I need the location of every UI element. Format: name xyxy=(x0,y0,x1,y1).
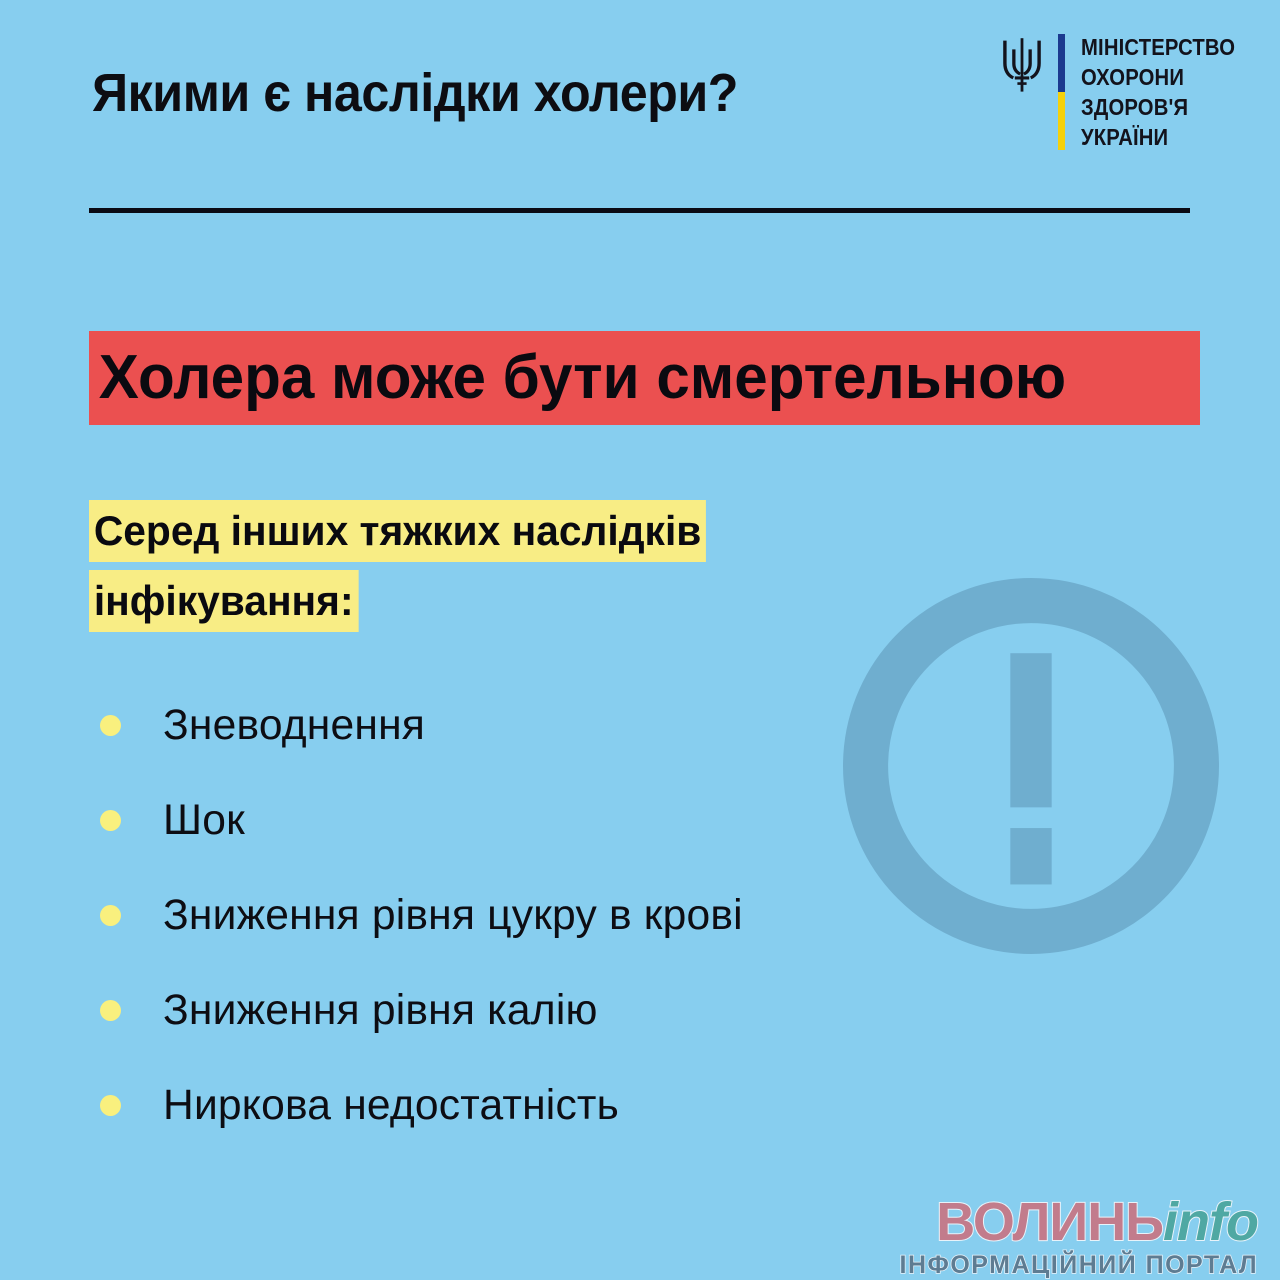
site-watermark: ВОЛИНЬinfo ІНФОРМАЦІЙНИЙ ПОРТАЛ xyxy=(838,1196,1258,1280)
flag-divider-bar xyxy=(1058,34,1065,150)
header-divider xyxy=(89,208,1190,213)
list-item: Зниження рівня цукру в крові xyxy=(94,868,894,963)
infographic-page: Якими є наслідки холери? МІНІСТЕРСТВО ОХ… xyxy=(0,0,1280,1280)
watermark-tagline: ІНФОРМАЦІЙНИЙ ПОРТАЛ xyxy=(838,1250,1258,1280)
list-item-label: Шок xyxy=(163,796,245,845)
watermark-brand-primary: ВОЛИНЬ xyxy=(936,1192,1163,1252)
list-item: Зневоднення xyxy=(94,678,894,773)
bullet-dot-icon xyxy=(100,1000,121,1021)
ministry-logo: МІНІСТЕРСТВО ОХОРОНИ ЗДОРОВ'Я УКРАЇНИ xyxy=(1000,32,1215,167)
subheading-line-1: Серед інших тяжких наслідків xyxy=(89,500,706,562)
bullet-dot-icon xyxy=(100,1095,121,1116)
bullet-dot-icon xyxy=(100,905,121,926)
ministry-logo-line-4: УКРАЇНИ xyxy=(1081,122,1235,152)
list-item: Ниркова недостатність xyxy=(94,1058,894,1153)
page-title: Якими є наслідки холери? xyxy=(92,62,738,124)
watermark-brand: ВОЛИНЬinfo xyxy=(838,1196,1258,1248)
ministry-logo-text: МІНІСТЕРСТВО ОХОРОНИ ЗДОРОВ'Я УКРАЇНИ xyxy=(1081,32,1256,152)
fatality-banner: Холера може бути смертельною xyxy=(89,331,1200,425)
bullet-dot-icon xyxy=(100,810,121,831)
fatality-banner-text: Холера може бути смертельною xyxy=(89,347,1066,409)
tryzub-icon xyxy=(1000,36,1044,94)
list-item-label: Зниження рівня калію xyxy=(163,986,598,1035)
ministry-logo-line-1: МІНІСТЕРСТВО xyxy=(1081,32,1235,62)
subheading-line-2: інфікування: xyxy=(89,570,358,632)
consequences-list: Зневоднення Шок Зниження рівня цукру в к… xyxy=(94,678,894,1153)
ministry-logo-line-2: ОХОРОНИ xyxy=(1081,62,1235,92)
list-item: Зниження рівня калію xyxy=(94,963,894,1058)
watermark-brand-secondary: info xyxy=(1163,1192,1258,1252)
ministry-logo-line-3: ЗДОРОВ'Я xyxy=(1081,92,1235,122)
list-item-label: Ниркова недостатність xyxy=(163,1081,619,1130)
list-item: Шок xyxy=(94,773,894,868)
list-item-label: Зниження рівня цукру в крові xyxy=(163,891,743,940)
list-item-label: Зневоднення xyxy=(163,701,425,750)
bullet-dot-icon xyxy=(100,715,121,736)
subheading: Серед інших тяжких наслідків інфікування… xyxy=(89,500,939,640)
